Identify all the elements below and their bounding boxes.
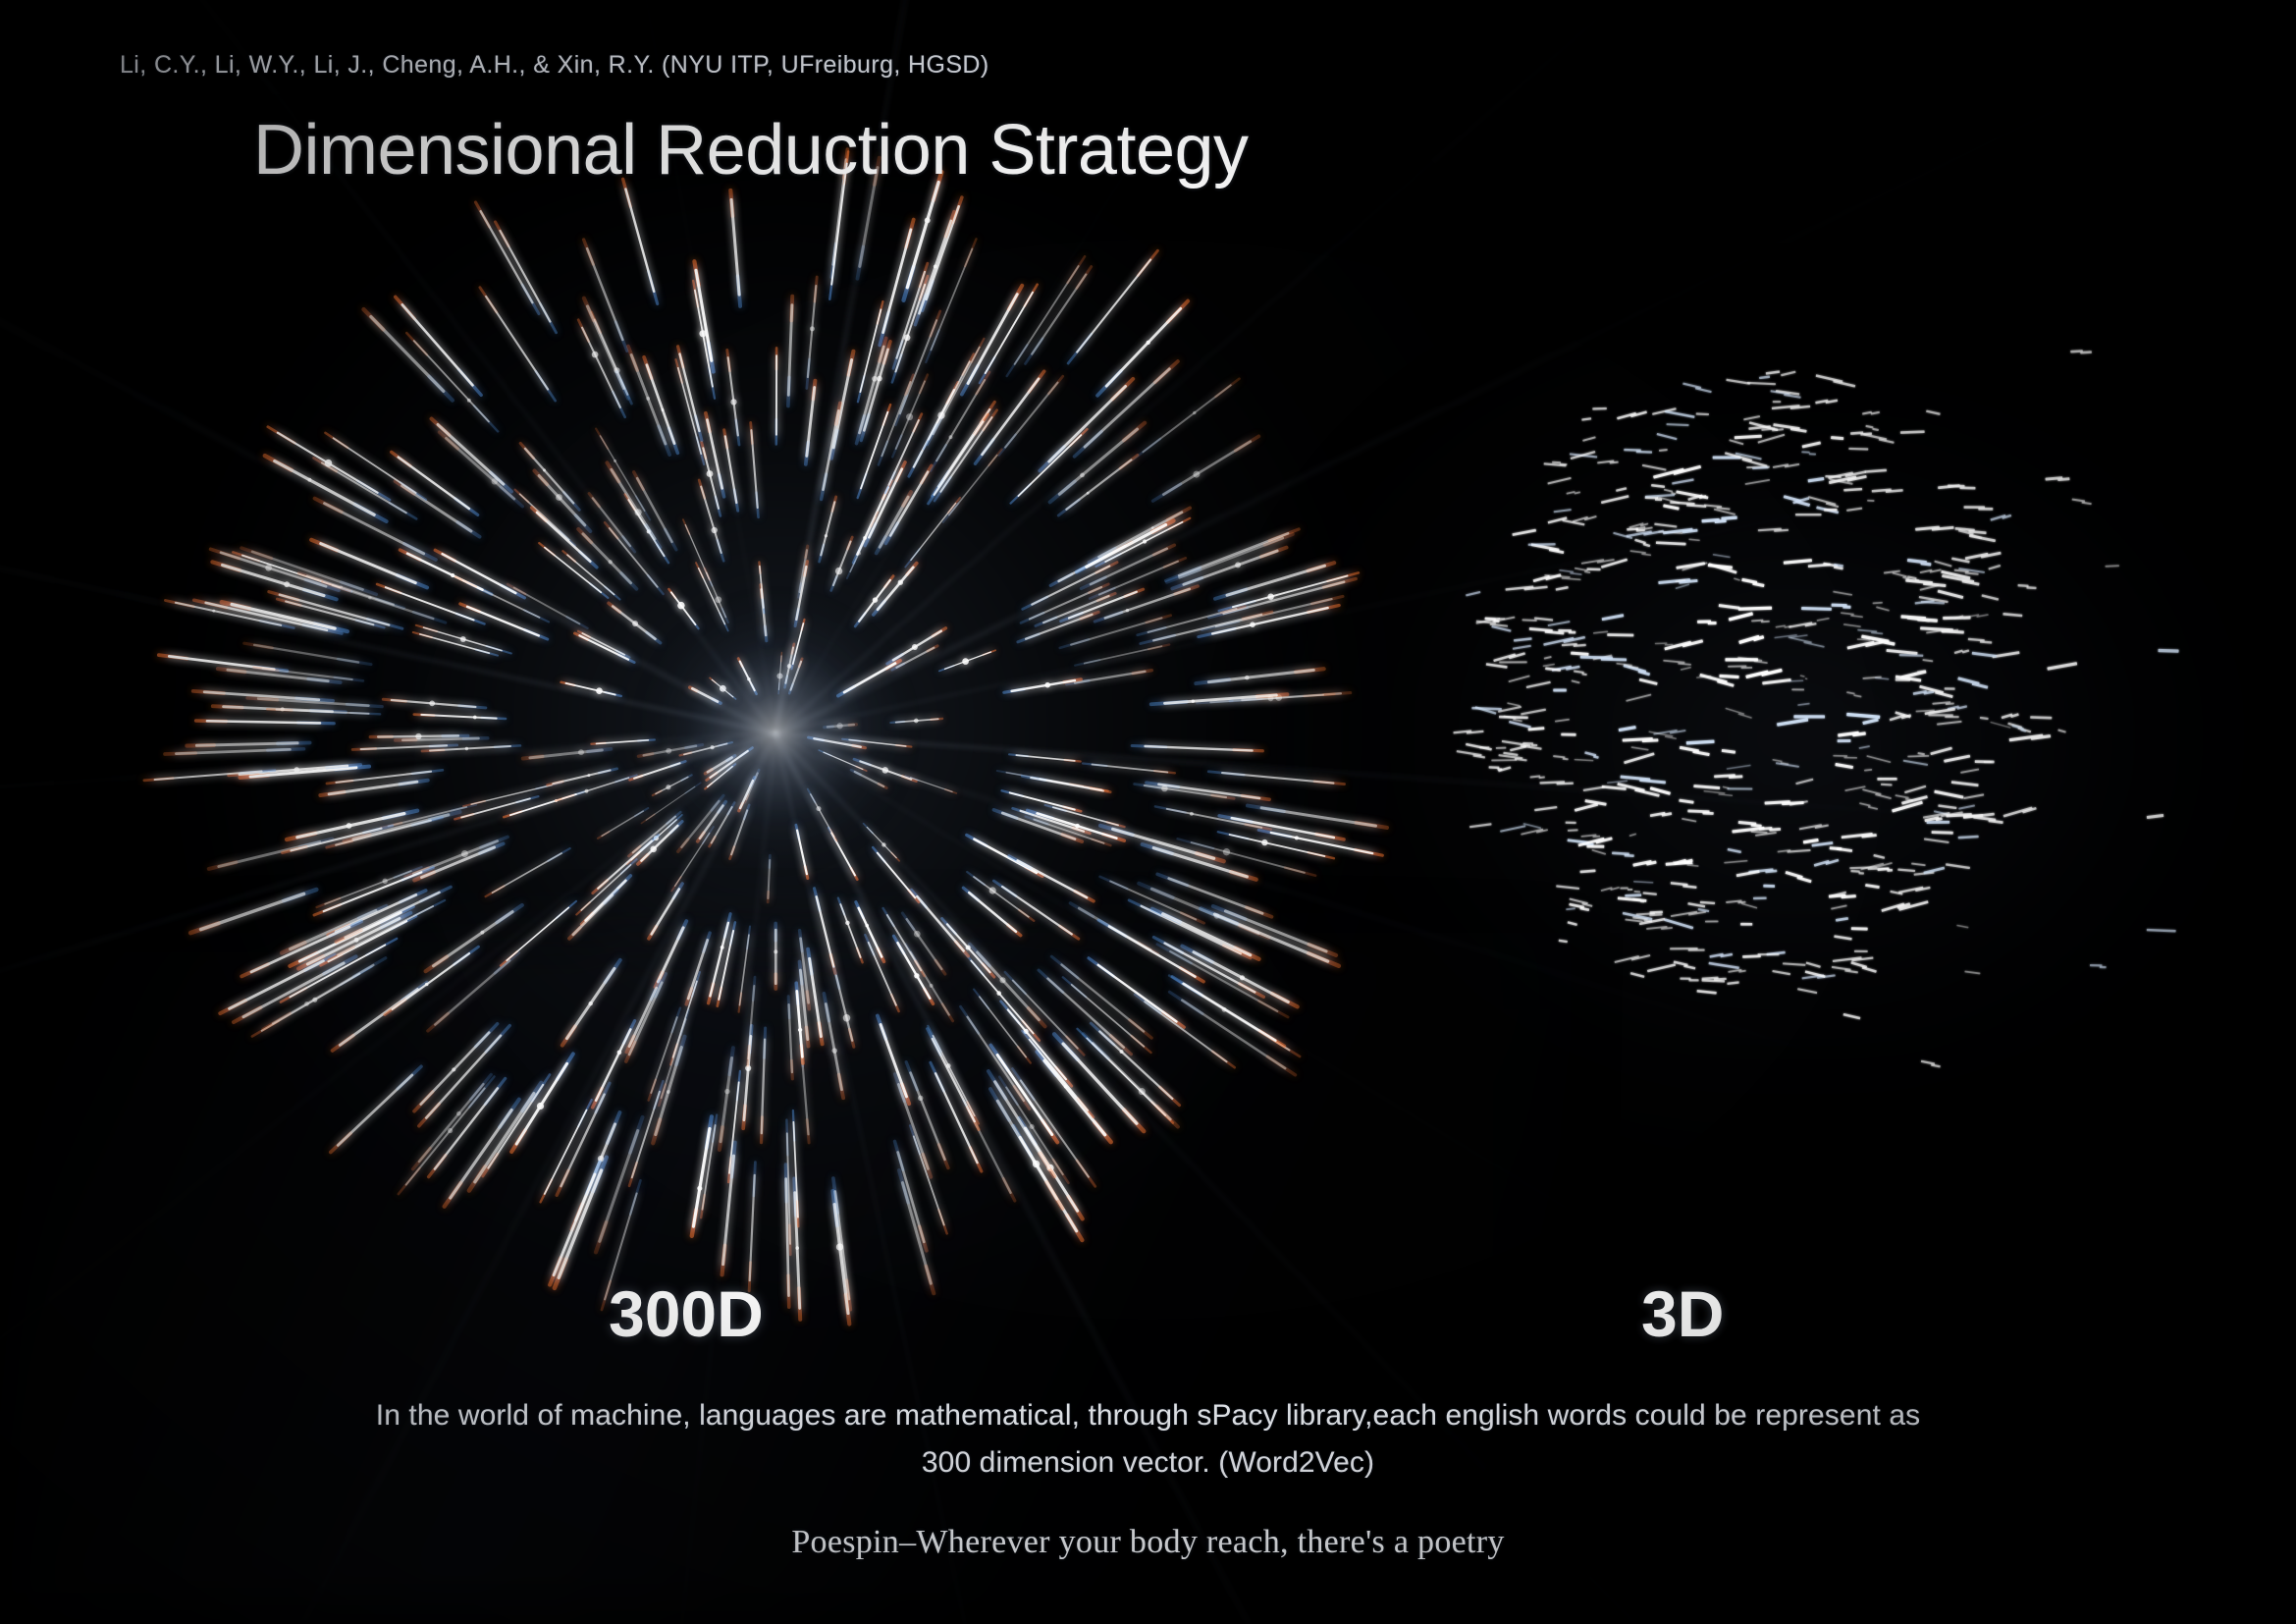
streak-warm-tip (1078, 1099, 1094, 1117)
burst-streak (791, 662, 802, 690)
streak-warm-tip (638, 754, 652, 757)
streak-node (881, 842, 885, 846)
streak-node (831, 1048, 836, 1053)
cloud-word-dash (1881, 902, 1904, 912)
cloud-word-dash (1881, 784, 1893, 786)
streak-warm-tip (1065, 760, 1081, 762)
streak-warm-tip (345, 835, 370, 841)
streak-cool-tip (1143, 844, 1172, 853)
streak-warm-tip (1053, 1160, 1069, 1183)
cloud-word-dash (1806, 961, 1821, 967)
burst-streak (514, 588, 580, 624)
cloud-word-dash (1639, 678, 1658, 685)
streak-cool-tip (1096, 554, 1121, 567)
streak-cool-tip (796, 825, 799, 839)
streak-cool-tip (1019, 1118, 1036, 1145)
cloud-word-dash (1834, 935, 1852, 940)
cloud-word-dash (1946, 702, 1954, 705)
streak-warm-tip (920, 1226, 927, 1251)
cloud-word-dash (1621, 776, 1651, 782)
burst-streak (940, 417, 991, 492)
cloud-word-dash (1792, 497, 1809, 504)
streak-cool-tip (1157, 945, 1192, 963)
burst-streak (834, 1205, 848, 1314)
streak-node (212, 610, 215, 613)
streak-cool-tip (615, 776, 637, 783)
cloud-word-dash (1862, 718, 1879, 725)
cloud-word-dash (1816, 374, 1843, 383)
cloud-word-dash (1497, 768, 1502, 771)
streak-cool-tip (915, 296, 925, 325)
cloud-word-dash (1582, 842, 1594, 846)
streak-cool-tip (548, 848, 569, 861)
streak-warm-tip (797, 1201, 798, 1226)
cloud-word-dash (1714, 774, 1735, 778)
streak-node (857, 551, 861, 555)
cloud-word-dash (1499, 716, 1528, 720)
streak-cool-tip (430, 745, 457, 746)
streak-cool-tip (1199, 628, 1235, 636)
cloud-word-dash (1629, 834, 1637, 838)
burst-streak (553, 771, 610, 785)
burst-streak (631, 355, 666, 445)
cloud-word-dash (1682, 529, 1698, 534)
streak-warm-tip (194, 600, 227, 608)
cloud-word-dash (1453, 730, 1471, 733)
cloud-word-dash (1593, 630, 1608, 633)
cloud-word-dash (1674, 960, 1688, 966)
burst-streak (1192, 842, 1305, 873)
cloud-word-dash (1657, 496, 1680, 504)
streak-cool-tip (681, 775, 691, 780)
burst-streak (1105, 522, 1183, 562)
cloud-word-dash (1797, 703, 1810, 706)
streak-cool-tip (906, 945, 918, 964)
cloud-word-dash (1932, 526, 1954, 531)
streak-cool-tip (808, 789, 816, 803)
cloud-word-dash (1582, 436, 1596, 442)
cloud-word-dash (1772, 970, 1790, 975)
burst-streak (927, 206, 959, 299)
streak-cool-tip (1089, 548, 1115, 562)
cloud-word-dash (1676, 579, 1686, 583)
burst-streak (869, 943, 896, 1005)
cloud-word-dash (1936, 817, 1943, 821)
streak-warm-tip (698, 833, 704, 841)
streak-cool-tip (616, 372, 628, 399)
streak-cool-tip (825, 727, 833, 728)
cloud-word-dash (1917, 670, 1924, 672)
cloud-word-dash (1515, 758, 1527, 762)
burst-streak (644, 746, 696, 756)
cloud-word-dash (1665, 644, 1674, 646)
cloud-word-dash (1572, 679, 1580, 683)
cloud-word-dash (2003, 806, 2033, 817)
streak-warm-tip (1064, 807, 1082, 812)
streak-cool-tip (1135, 995, 1160, 1013)
cloud-word-dash (1907, 575, 1917, 579)
streak-cool-tip (673, 884, 682, 898)
burst-streak (402, 304, 473, 385)
streak-warm-tip (569, 928, 580, 939)
burst-streak (263, 669, 352, 679)
cloud-word-dash (1802, 441, 1821, 448)
streak-warm-tip (968, 1103, 979, 1124)
cloud-word-dash (1963, 793, 1984, 799)
streak-warm-tip (428, 1013, 448, 1031)
streak-warm-tip (254, 668, 278, 671)
streak-node (614, 367, 619, 373)
cloud-word-dash (1597, 460, 1614, 463)
cloud-word-dash (1772, 428, 1784, 431)
cloud-word-dash (1926, 628, 1949, 633)
streak-warm-tip (1025, 285, 1038, 306)
streak-cool-tip (828, 828, 836, 841)
streak-cool-tip (455, 499, 478, 515)
streak-cool-tip (692, 972, 700, 997)
burst-streak (413, 841, 497, 875)
streak-cool-tip (904, 267, 914, 300)
burst-streak (1091, 549, 1167, 584)
streak-cool-tip (390, 503, 416, 518)
streak-cool-tip (402, 983, 427, 1001)
streak-node (654, 836, 659, 840)
cloud-word-dash (1782, 801, 1804, 805)
burst-streak (262, 974, 360, 1031)
cloud-word-dash (1765, 800, 1790, 804)
streak-warm-tip (578, 320, 588, 342)
streak-cool-tip (284, 890, 316, 900)
streak-cool-tip (865, 524, 876, 546)
cloud-word-dash (1503, 752, 1518, 756)
cloud-word-dash (1665, 410, 1695, 418)
streak-cool-tip (788, 377, 789, 406)
cloud-word-dash (1640, 900, 1644, 903)
burst-streak (934, 421, 984, 494)
burst-streak (176, 603, 281, 625)
streak-node (1214, 913, 1220, 919)
streak-cool-tip (1063, 977, 1086, 997)
cloud-svg (1355, 314, 2140, 1100)
streak-warm-tip (1008, 925, 1021, 936)
cloud-word-dash (1963, 814, 1983, 818)
burst-streak (684, 743, 727, 754)
streak-cool-tip (1169, 976, 1203, 997)
streak-cool-tip (522, 285, 539, 314)
streak-node (699, 330, 706, 337)
streak-cool-tip (842, 739, 860, 741)
streak-cool-tip (647, 632, 661, 643)
burst-streak (1093, 1044, 1170, 1119)
streak-node (946, 1063, 951, 1068)
streak-warm-tip (383, 699, 405, 701)
burst-streak (1005, 383, 1057, 448)
streak-cool-tip (696, 416, 702, 441)
burst-streak (588, 306, 624, 389)
burst-streak (176, 749, 290, 753)
burst-streak (723, 1156, 734, 1265)
streak-warm-tip (377, 584, 400, 593)
burst-streak (641, 826, 677, 861)
streak-warm-tip (926, 1267, 934, 1294)
cloud-word-dash (1761, 427, 1775, 431)
streak-warm-tip (298, 573, 322, 581)
cloud-word-dash (1852, 731, 1866, 736)
cloud-word-dash (1766, 370, 1781, 374)
burst-streak (334, 438, 416, 493)
streak-cool-tip (1219, 601, 1255, 611)
cloud-word-dash (1682, 818, 1696, 823)
cloud-word-dash (1959, 486, 1975, 489)
cloud-word-dash (1862, 411, 1872, 415)
cloud-word-dash (1734, 577, 1740, 581)
cloud-word-dash (1859, 745, 1870, 749)
streak-cool-tip (638, 739, 655, 740)
streak-cool-tip (630, 1117, 642, 1153)
streak-warm-tip (644, 357, 652, 379)
streak-node (1044, 682, 1050, 688)
cloud-word-dash (1671, 911, 1697, 917)
streak-warm-tip (953, 197, 962, 222)
burst-streak (1018, 435, 1081, 496)
burst-streak (786, 1179, 789, 1296)
burst-streak (629, 988, 657, 1047)
streak-cool-tip (886, 523, 898, 544)
streak-cool-tip (806, 443, 809, 464)
streak-node (996, 991, 1001, 996)
streak-warm-tip (739, 803, 743, 811)
burst-streak (435, 960, 509, 1024)
burst-streak (421, 715, 496, 719)
streak-cool-tip (1132, 746, 1166, 747)
streak-warm-tip (1163, 1012, 1184, 1028)
streak-warm-tip (629, 1163, 637, 1185)
streak-cool-tip (893, 342, 902, 369)
streak-cool-tip (1077, 559, 1102, 572)
cloud-word-dash (1581, 673, 1586, 676)
streak-warm-tip (967, 1108, 979, 1130)
streak-warm-tip (709, 984, 714, 1003)
streak-warm-tip (454, 814, 473, 819)
cloud-word-dash (1984, 761, 1992, 763)
streak-warm-tip (678, 839, 688, 852)
cloud-word-dash (1789, 622, 1812, 628)
cloud-word-dash (1534, 617, 1553, 621)
streak-cool-tip (928, 1029, 941, 1056)
streak-cool-tip (822, 474, 827, 500)
burst-streak (897, 272, 926, 358)
cloud-word-dash (1626, 694, 1651, 702)
streak-warm-tip (193, 691, 224, 693)
streak-cool-tip (666, 529, 676, 550)
streak-warm-tip (1269, 529, 1299, 541)
streak-warm-tip (935, 960, 945, 974)
streak-cool-tip (1013, 808, 1034, 815)
streak-warm-tip (252, 1021, 279, 1037)
burst-streak (693, 1129, 710, 1227)
streak-cool-tip (336, 767, 369, 770)
cloud-word-dash (1491, 625, 1511, 632)
streak-node (934, 264, 937, 268)
streak-cool-tip (730, 922, 735, 944)
streak-cool-tip (599, 769, 617, 773)
burst-streak (488, 1085, 543, 1168)
streak-warm-tip (405, 868, 428, 877)
cloud-word-dash (1938, 804, 1956, 809)
cloud-word-dash (1728, 848, 1741, 853)
cloud-word-dash (1932, 701, 1950, 705)
streak-cool-tip (430, 812, 460, 820)
streak-warm-tip (1152, 520, 1174, 532)
burst-streak (242, 556, 340, 588)
streak-warm-tip (592, 312, 601, 333)
streak-warm-tip (705, 568, 710, 580)
burst-streak (223, 566, 325, 596)
streak-node (843, 1014, 850, 1021)
cloud-word-dash (1721, 515, 1736, 519)
streak-node (677, 602, 684, 609)
cloud-word-dash (1717, 679, 1735, 686)
burst-streak (795, 1193, 800, 1309)
streak-warm-tip (1097, 593, 1115, 600)
streak-cool-tip (794, 1178, 796, 1215)
streak-warm-tip (727, 351, 730, 371)
lens-ray (0, 733, 778, 1624)
burst-streak (703, 1125, 716, 1210)
cloud-word-dash (1559, 569, 1574, 572)
cloud-word-dash (1650, 812, 1666, 817)
streak-cool-tip (487, 646, 511, 654)
streak-node (930, 984, 934, 988)
burst-streak (1163, 442, 1251, 495)
cloud-word-dash (1890, 891, 1902, 895)
burst-streak (322, 462, 406, 513)
cloud-word-dash (1753, 896, 1767, 899)
burst-streak (788, 305, 792, 396)
cloud-word-dash (1924, 838, 1949, 843)
cloud-word-dash (1726, 379, 1750, 385)
cloud-word-dash (1638, 670, 1651, 676)
cloud-word-dash (1907, 617, 1930, 623)
cloud-word-dash (1951, 781, 1979, 786)
streak-warm-tip (848, 352, 853, 375)
streak-node (711, 745, 715, 749)
burst-streak (329, 782, 417, 794)
burst-streak (434, 912, 513, 966)
streak-warm-tip (1308, 852, 1334, 858)
cloud-word-dash (1809, 453, 1816, 455)
streak-cool-tip (1061, 613, 1083, 621)
cloud-word-dash (1630, 972, 1645, 978)
cloud-word-dash (1688, 979, 1698, 981)
burst-streak (554, 1174, 595, 1275)
streak-warm-tip (605, 522, 617, 538)
burst-streak (935, 1073, 978, 1163)
cloud-word-dash (1844, 969, 1858, 973)
streak-node (578, 749, 584, 755)
streak-warm-tip (1003, 1179, 1015, 1201)
cloud-word-dash (1568, 839, 1590, 843)
streak-cool-tip (1141, 635, 1175, 643)
cloud-word-dash (1655, 498, 1662, 501)
streak-node (294, 767, 299, 773)
cloud-word-dash (1755, 832, 1777, 837)
cloud-word-dash (1955, 527, 1975, 532)
slide-canvas: Li, C.Y., Li, W.Y., Li, J., Cheng, A.H.,… (0, 0, 2296, 1624)
streak-cool-tip (606, 960, 620, 983)
cloud-word-dash (1506, 585, 1534, 590)
streak-cool-tip (892, 354, 901, 382)
burst-streak (824, 410, 839, 489)
streak-node (588, 1001, 592, 1005)
cloud-word-dash (1566, 666, 1580, 671)
streak-cool-tip (658, 545, 669, 563)
streak-cool-tip (667, 812, 681, 824)
cloud-word-dash (1774, 634, 1796, 639)
cloud-word-dash (1629, 550, 1645, 554)
streak-warm-tip (1234, 750, 1262, 751)
burst-streak (399, 458, 469, 509)
streak-cool-tip (800, 962, 802, 984)
lens-ray (0, 731, 775, 850)
cloud-word-dash (1686, 740, 1715, 745)
streak-warm-tip (724, 430, 727, 448)
streak-warm-tip (1111, 1036, 1132, 1055)
streak-warm-tip (656, 973, 663, 988)
burst-streak (386, 587, 474, 620)
cloud-word-dash (1945, 716, 1958, 718)
streak-cool-tip (646, 525, 660, 547)
streak-cool-tip (471, 1074, 492, 1099)
cloud-word-dash (1907, 559, 1927, 565)
cloud-word-dash (1663, 528, 1693, 535)
lens-ray (773, 733, 1561, 1624)
cloud-word-dash (1625, 854, 1634, 857)
burst-streak (389, 807, 467, 827)
streak-cool-tip (621, 859, 637, 874)
cloud-word-dash (1522, 619, 1537, 622)
cloud-word-dash (1963, 813, 1995, 819)
cloud-word-dash (1678, 663, 1691, 666)
cloud-word-dash (1966, 614, 1979, 618)
burst-streak (793, 623, 804, 664)
burst-streak (800, 970, 807, 1040)
cloud-word-dash (1844, 785, 1865, 791)
streak-warm-tip (1064, 679, 1081, 682)
streak-warm-tip (1240, 984, 1264, 997)
streak-warm-tip (1091, 788, 1110, 792)
cloud-word-dash (1650, 786, 1671, 795)
streak-node (556, 494, 562, 501)
burst-streak (1098, 965, 1177, 1022)
streak-cool-tip (763, 600, 764, 614)
streak-warm-tip (805, 562, 808, 576)
streak-warm-tip (1155, 361, 1178, 382)
streak-warm-tip (240, 775, 269, 778)
cloud-word-dash (1886, 489, 1903, 493)
streak-warm-tip (884, 342, 891, 363)
streak-warm-tip (1240, 926, 1268, 938)
burst-streak (353, 815, 449, 839)
streak-warm-tip (483, 1154, 498, 1176)
burst-streak (1230, 835, 1325, 856)
burst-streak (995, 1082, 1049, 1168)
streak-warm-tip (931, 311, 940, 337)
streak-warm-tip (906, 375, 914, 395)
cloud-word-dash (2072, 499, 2086, 503)
streak-node (836, 723, 842, 729)
cloud-word-dash (2007, 723, 2022, 729)
